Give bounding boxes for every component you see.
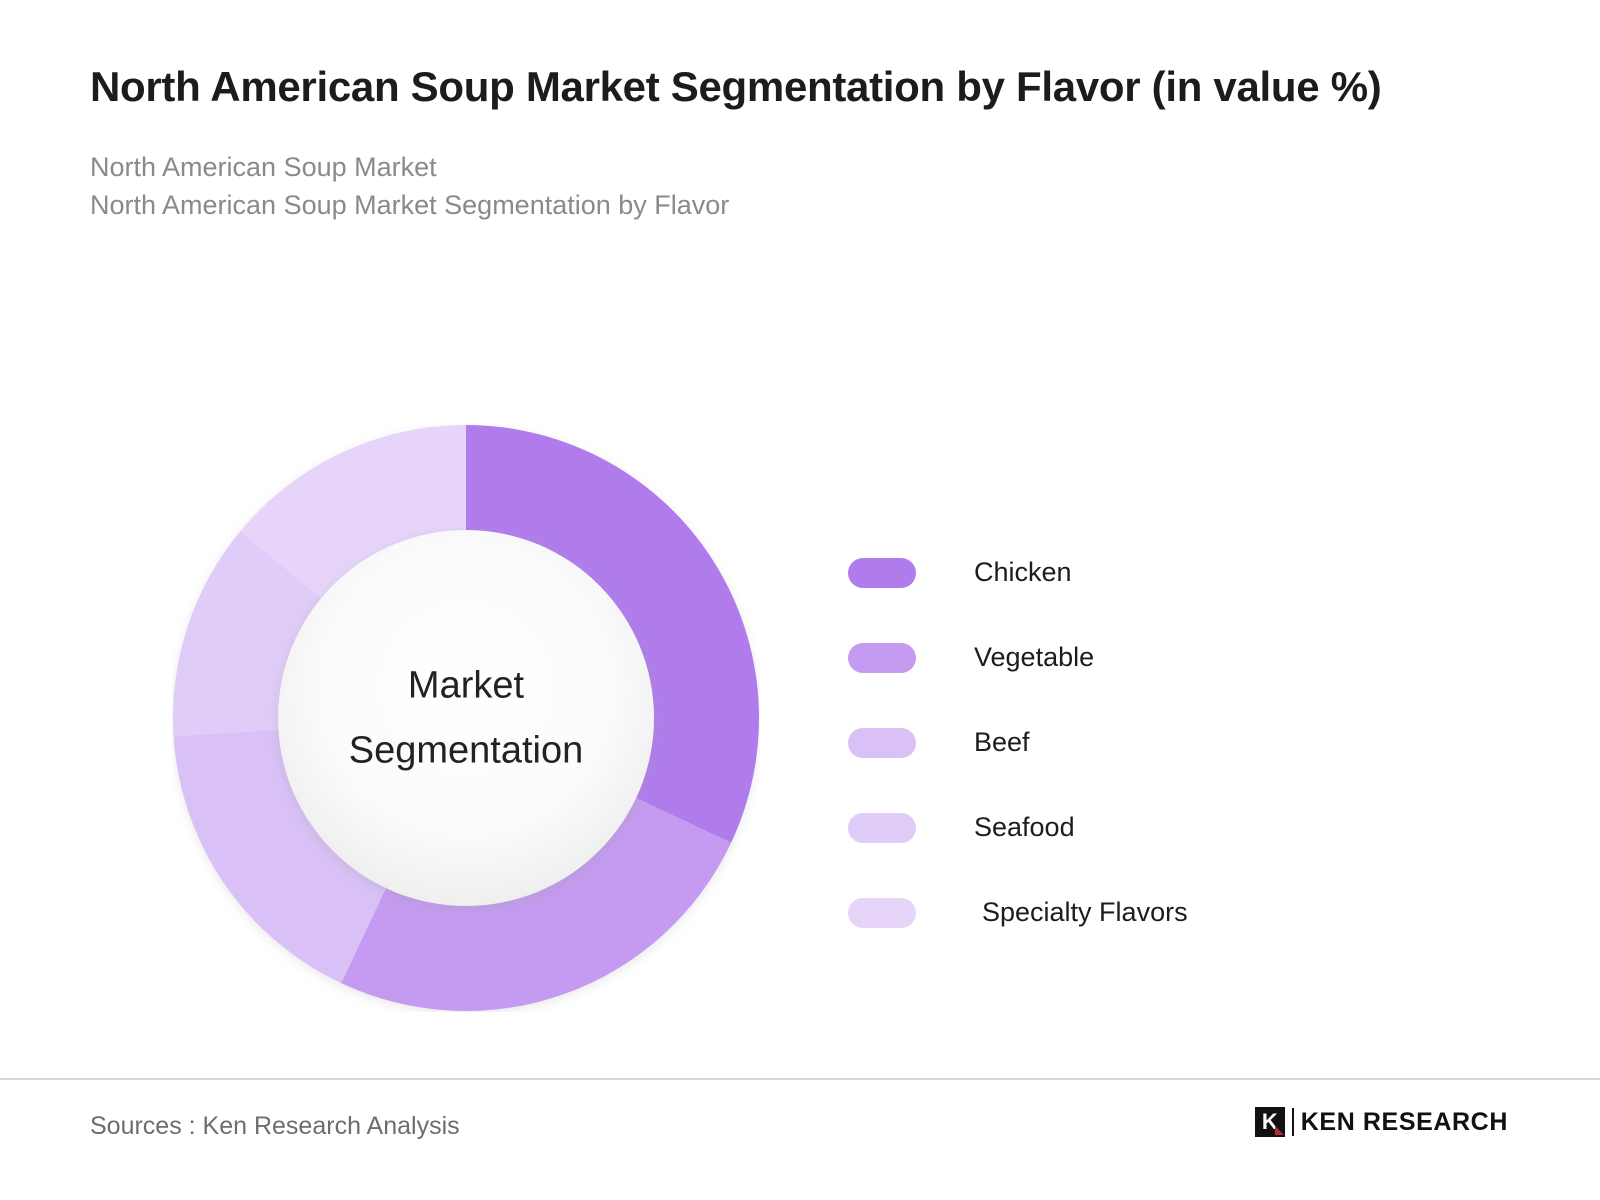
logo-divider-bar xyxy=(1292,1108,1294,1136)
breadcrumb-line-1: North American Soup Market xyxy=(90,148,1490,186)
header: North American Soup Market Segmentation … xyxy=(90,62,1490,224)
legend-item-seafood[interactable]: Seafood xyxy=(848,785,1448,870)
legend-label-vegetable: Vegetable xyxy=(974,642,1094,673)
donut-chart: Market Segmentation xyxy=(172,424,760,1012)
ken-research-logo-mark-icon: K xyxy=(1255,1107,1285,1137)
sources-note: Sources : Ken Research Analysis xyxy=(90,1112,460,1141)
legend-item-beef[interactable]: Beef xyxy=(848,700,1448,785)
legend-item-chicken[interactable]: Chicken xyxy=(848,530,1448,615)
footer: Sources : Ken Research Analysis K KEN RE… xyxy=(0,1078,1600,1200)
donut-chart-svg xyxy=(172,424,760,1012)
page-title: North American Soup Market Segmentation … xyxy=(90,62,1460,112)
legend-swatch-chicken xyxy=(848,558,916,588)
logo-wordmark: KEN RESEARCH xyxy=(1301,1108,1508,1137)
chart-legend: Chicken Vegetable Beef Seafood Specialty… xyxy=(848,530,1448,955)
legend-item-specialty-flavors[interactable]: Specialty Flavors xyxy=(848,870,1448,955)
legend-label-seafood: Seafood xyxy=(974,812,1075,843)
breadcrumb-line-2: North American Soup Market Segmentation … xyxy=(90,186,1490,224)
legend-label-specialty-flavors: Specialty Flavors xyxy=(982,897,1188,928)
legend-label-beef: Beef xyxy=(974,727,1030,758)
legend-swatch-seafood xyxy=(848,813,916,843)
legend-swatch-specialty-flavors xyxy=(848,898,916,928)
legend-item-vegetable[interactable]: Vegetable xyxy=(848,615,1448,700)
slide-canvas: North American Soup Market Segmentation … xyxy=(0,0,1600,1200)
breadcrumb: North American Soup Market North America… xyxy=(90,148,1490,225)
legend-swatch-vegetable xyxy=(848,643,916,673)
donut-center-hole xyxy=(278,530,654,906)
ken-research-logo: K KEN RESEARCH xyxy=(1255,1104,1508,1140)
logo-triangle-accent-icon xyxy=(1275,1126,1284,1135)
legend-swatch-beef xyxy=(848,728,916,758)
chart-area: Market Segmentation Chicken Vegetable Be… xyxy=(0,400,1600,1040)
legend-label-chicken: Chicken xyxy=(974,557,1072,588)
